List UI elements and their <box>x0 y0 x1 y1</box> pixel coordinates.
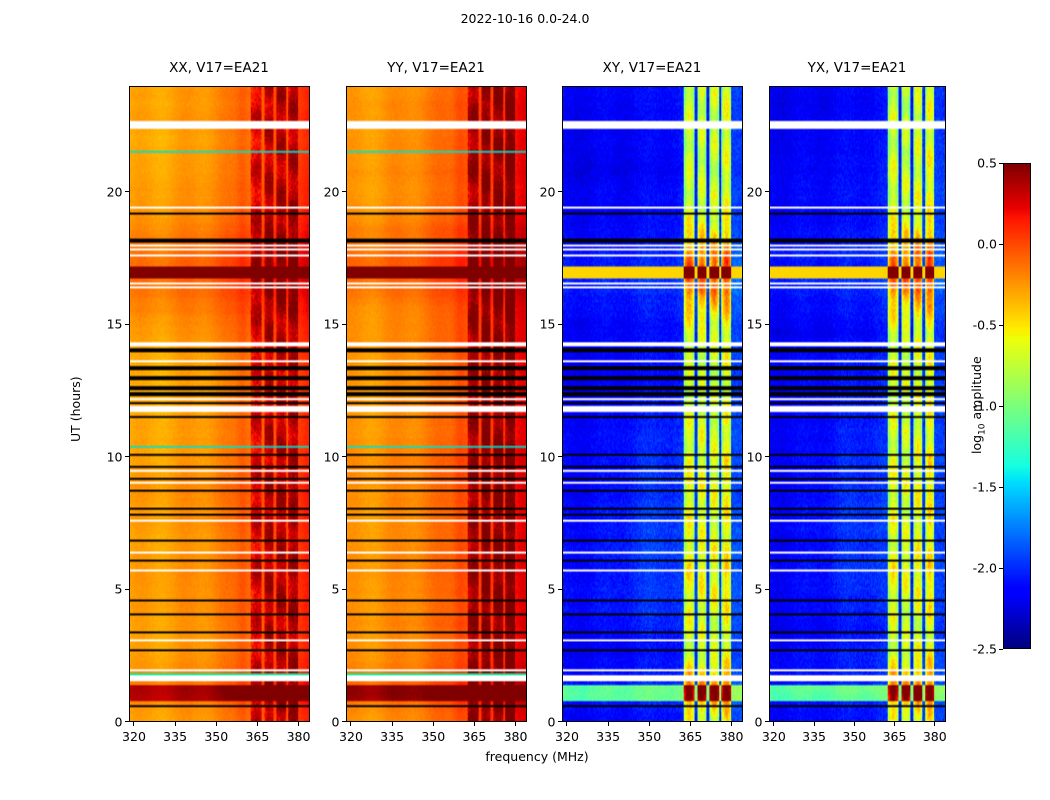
x-tick-label: 380 <box>923 729 947 744</box>
colorbar-tickmark <box>999 163 1003 164</box>
axis-label-y: UT (hours) <box>68 376 83 442</box>
y-tickmark <box>342 324 346 325</box>
y-tick-label: 15 <box>300 317 340 332</box>
colorbar-tick-label: 0.0 <box>955 237 997 252</box>
colorbar-tickmark <box>999 487 1003 488</box>
x-tick-label: 350 <box>637 729 661 744</box>
colorbar-tick-label: -1.5 <box>955 480 997 495</box>
y-tick-label: 20 <box>723 184 763 199</box>
x-tickmark <box>690 722 691 726</box>
y-tick-label: 5 <box>300 582 340 597</box>
y-tickmark <box>558 324 562 325</box>
colorbar-tickmark <box>999 325 1003 326</box>
y-tickmark <box>558 721 562 722</box>
x-tick-label: 380 <box>287 729 311 744</box>
colorbar-tick-label: 0.5 <box>955 156 997 171</box>
x-tickmark <box>392 722 393 726</box>
x-tickmark <box>608 722 609 726</box>
panel-title-xx: XX, V17=EA21 <box>129 60 310 76</box>
x-tickmark <box>175 722 176 726</box>
y-tick-label: 20 <box>300 184 340 199</box>
y-tick-label: 10 <box>516 449 556 464</box>
x-tickmark <box>350 722 351 726</box>
waterfall-panel-yy <box>346 86 527 722</box>
x-tick-label: 380 <box>504 729 528 744</box>
y-tick-label: 15 <box>83 317 123 332</box>
colorbar-tick-label: -2.5 <box>955 642 997 657</box>
x-tickmark <box>566 722 567 726</box>
x-tickmark <box>773 722 774 726</box>
y-tickmark <box>558 191 562 192</box>
y-tickmark <box>558 456 562 457</box>
colorbar-tickmark <box>999 649 1003 650</box>
x-tickmark <box>133 722 134 726</box>
x-tickmark <box>649 722 650 726</box>
y-tick-label: 0 <box>723 714 763 729</box>
axis-label-x: frequency (MHz) <box>129 749 946 764</box>
x-tick-label: 335 <box>163 729 187 744</box>
y-tickmark <box>342 456 346 457</box>
y-tick-label: 0 <box>516 714 556 729</box>
colorbar-tickmark <box>999 406 1003 407</box>
x-tick-label: 335 <box>380 729 404 744</box>
colorbar-label-subscript: 10 <box>978 423 988 434</box>
waterfall-image-xy <box>563 87 742 721</box>
y-tickmark <box>125 324 129 325</box>
x-tick-label: 320 <box>762 729 786 744</box>
y-tick-label: 5 <box>723 582 763 597</box>
y-tickmark <box>558 589 562 590</box>
colorbar-tickmark <box>999 244 1003 245</box>
y-tickmark <box>125 721 129 722</box>
y-tick-label: 0 <box>300 714 340 729</box>
panel-title-xy: XY, V17=EA21 <box>562 60 743 76</box>
x-tick-label: 350 <box>842 729 866 744</box>
y-tick-label: 15 <box>723 317 763 332</box>
y-tick-label: 10 <box>300 449 340 464</box>
colorbar-label: log10 amplitude <box>969 356 988 454</box>
panel-title-yx: YX, V17=EA21 <box>769 60 946 76</box>
x-tickmark <box>433 722 434 726</box>
colorbar-tickmark <box>999 568 1003 569</box>
waterfall-panel-yx <box>769 86 946 722</box>
x-tickmark <box>814 722 815 726</box>
x-tick-label: 320 <box>122 729 146 744</box>
x-tick-label: 350 <box>421 729 445 744</box>
waterfall-panel-xx <box>129 86 310 722</box>
y-tickmark <box>765 456 769 457</box>
y-tickmark <box>342 191 346 192</box>
x-tickmark <box>894 722 895 726</box>
panel-title-yy: YY, V17=EA21 <box>346 60 527 76</box>
x-tickmark <box>474 722 475 726</box>
y-tick-label: 10 <box>83 449 123 464</box>
y-tick-label: 5 <box>83 582 123 597</box>
y-tickmark <box>125 191 129 192</box>
waterfall-image-yy <box>347 87 526 721</box>
x-tick-label: 320 <box>339 729 363 744</box>
y-tickmark <box>342 721 346 722</box>
colorbar <box>1003 163 1031 649</box>
y-tickmark <box>342 589 346 590</box>
x-tick-label: 350 <box>204 729 228 744</box>
x-tickmark <box>257 722 258 726</box>
x-tick-label: 335 <box>802 729 826 744</box>
x-tick-label: 335 <box>596 729 620 744</box>
figure-canvas: 2022-10-16 0.0-24.0 XX, V17=EA2132033535… <box>0 0 1050 800</box>
x-tick-label: 365 <box>462 729 486 744</box>
y-tickmark <box>125 589 129 590</box>
x-tickmark <box>216 722 217 726</box>
waterfall-image-xx <box>130 87 309 721</box>
colorbar-label-text: log <box>969 435 984 454</box>
waterfall-image-yx <box>770 87 945 721</box>
y-tick-label: 20 <box>516 184 556 199</box>
y-tick-label: 0 <box>83 714 123 729</box>
x-tick-label: 380 <box>720 729 744 744</box>
figure-suptitle: 2022-10-16 0.0-24.0 <box>0 11 1050 26</box>
x-tickmark <box>854 722 855 726</box>
y-tickmark <box>765 589 769 590</box>
y-tickmark <box>765 324 769 325</box>
y-tick-label: 20 <box>83 184 123 199</box>
y-tickmark <box>765 721 769 722</box>
waterfall-panel-xy <box>562 86 743 722</box>
y-tick-label: 10 <box>723 449 763 464</box>
x-tick-label: 320 <box>555 729 579 744</box>
colorbar-tick-label: -0.5 <box>955 318 997 333</box>
y-tick-label: 5 <box>516 582 556 597</box>
y-tickmark <box>125 456 129 457</box>
x-tickmark <box>934 722 935 726</box>
colorbar-tick-label: -2.0 <box>955 561 997 576</box>
y-tickmark <box>765 191 769 192</box>
x-tick-label: 365 <box>883 729 907 744</box>
colorbar-label-suffix: amplitude <box>969 356 984 423</box>
y-tick-label: 15 <box>516 317 556 332</box>
x-tick-label: 365 <box>678 729 702 744</box>
x-tick-label: 365 <box>245 729 269 744</box>
